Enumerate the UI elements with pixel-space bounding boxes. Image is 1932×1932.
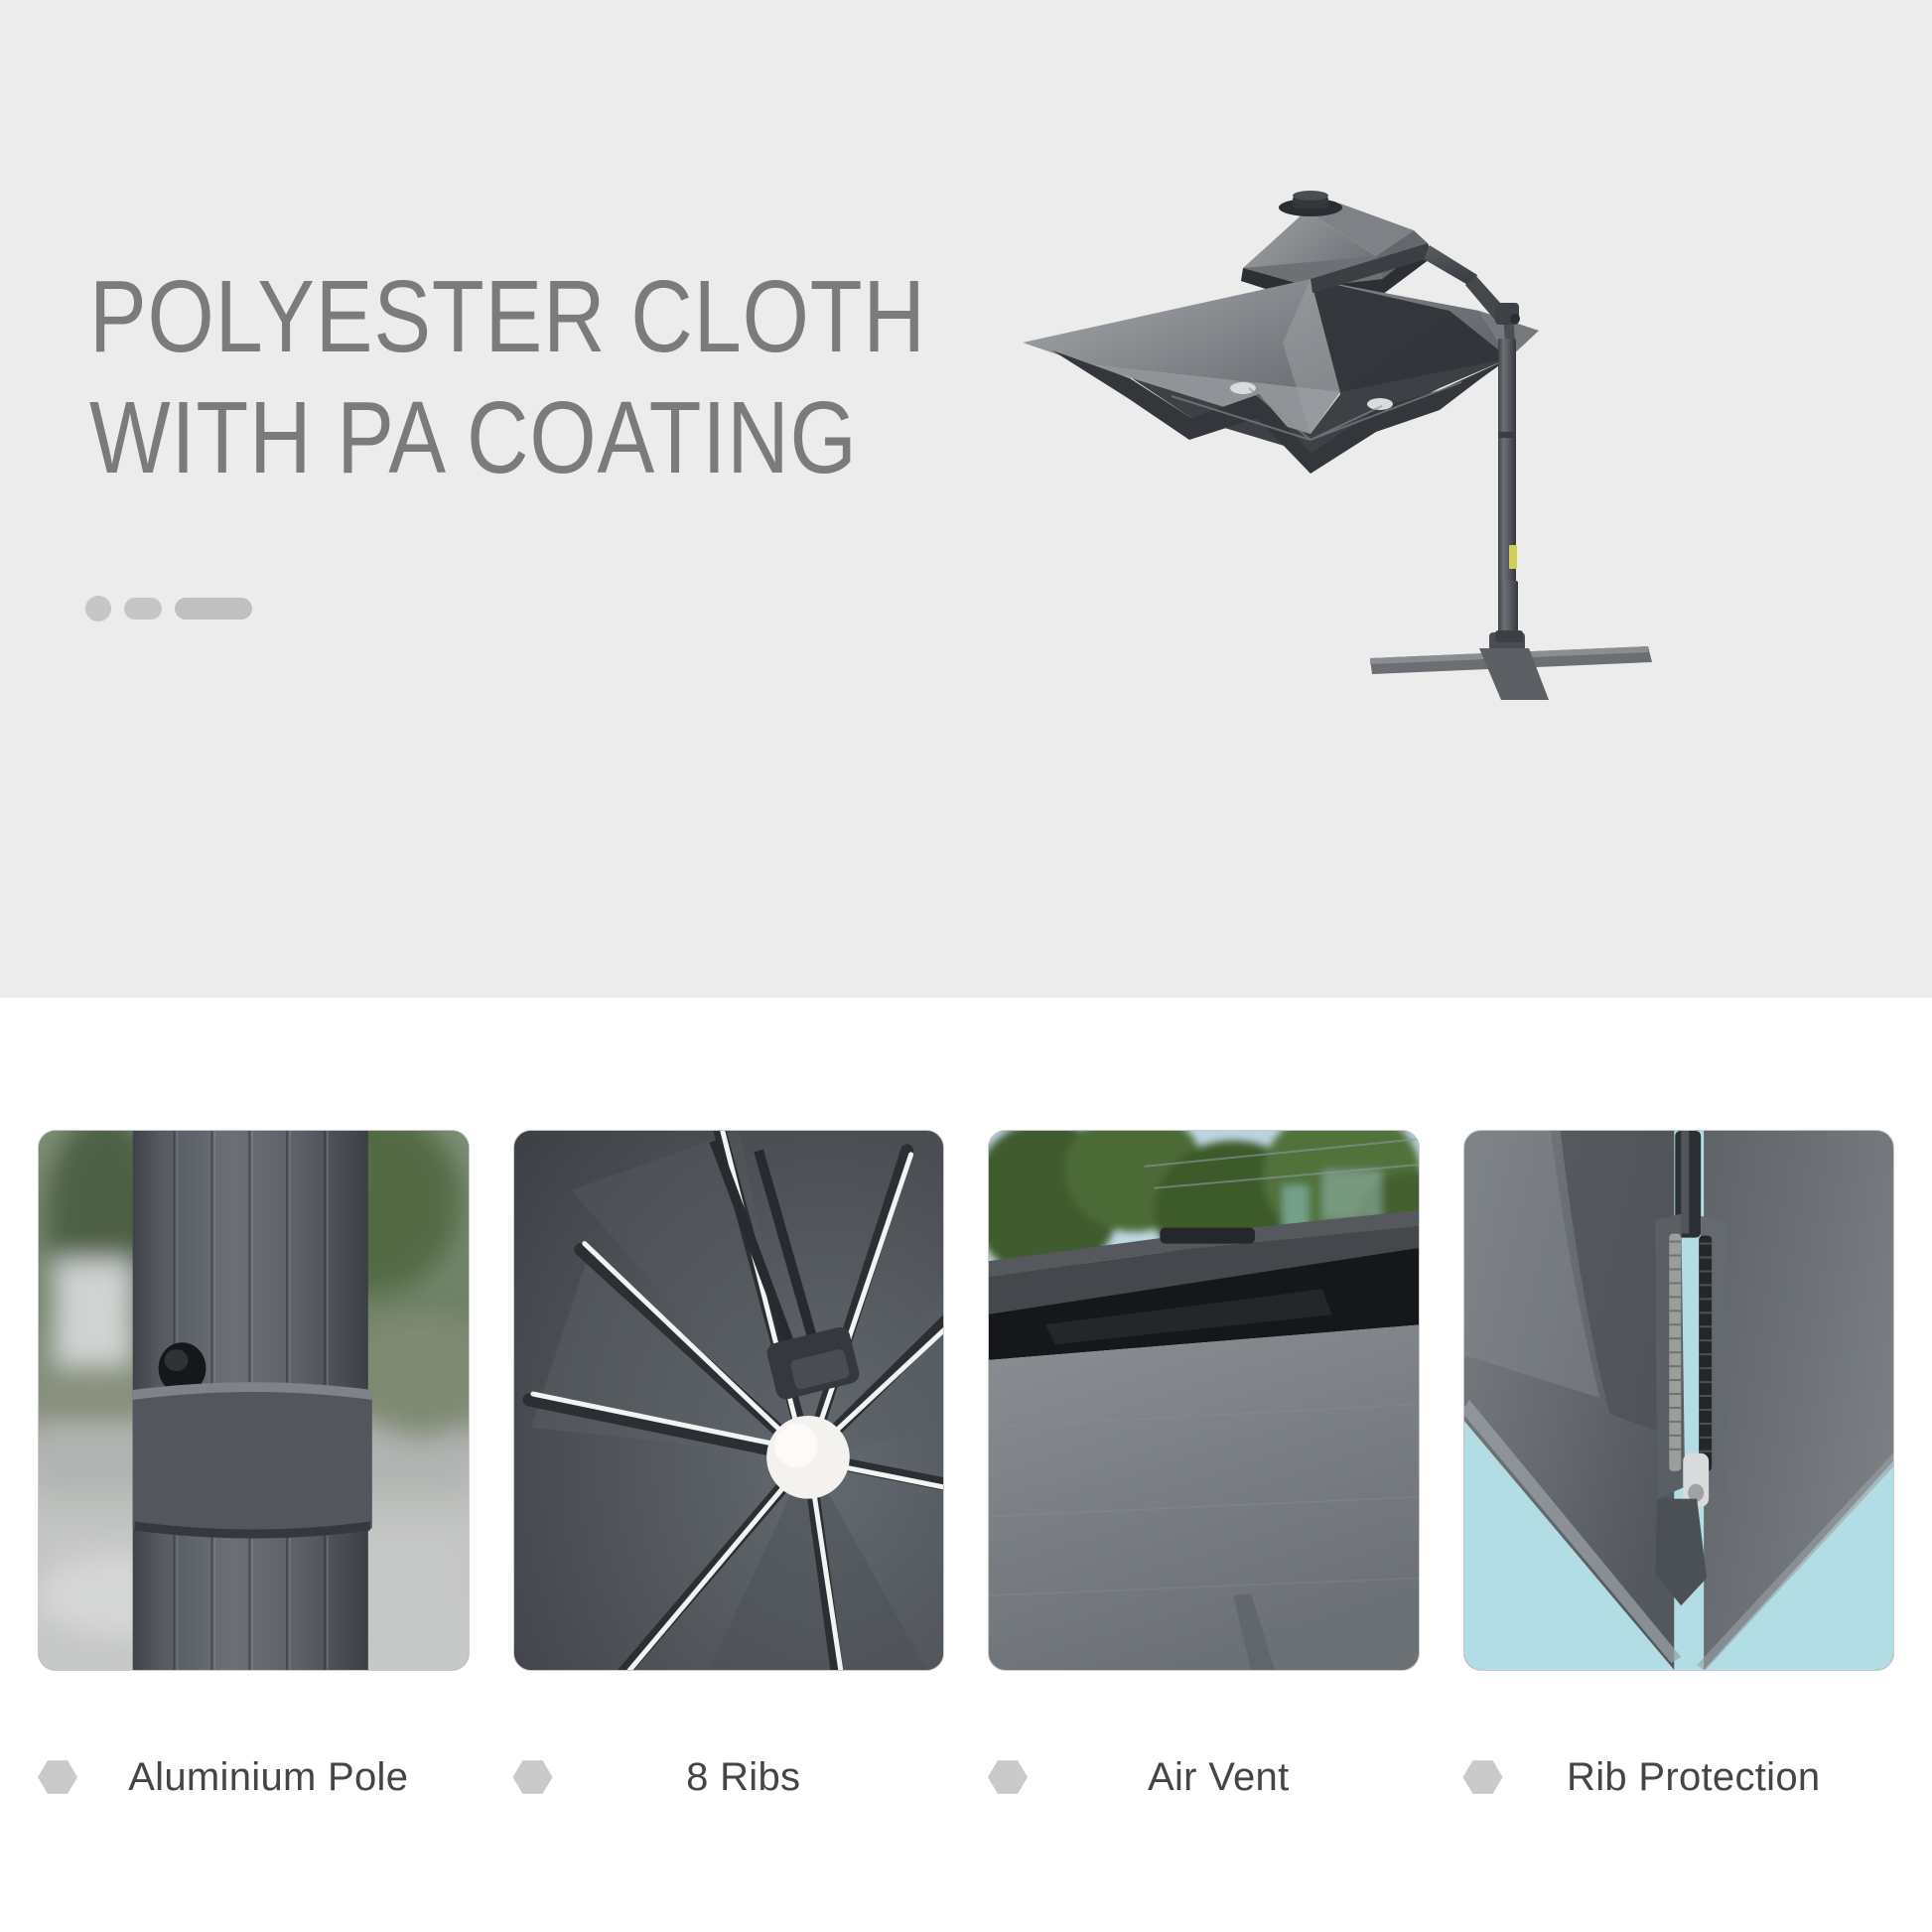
feature-card-rib-protection[interactable] [1463,1130,1895,1671]
rounded-bar-large-icon [175,598,252,620]
feature-cards-row [38,1130,1894,1671]
hexagon-bullet-icon [988,1759,1028,1795]
feature-labels-row: Aluminium Pole 8 Ribs Air Vent Rib Prote… [38,1723,1894,1832]
feature-card-air-vent[interactable] [988,1130,1420,1671]
label-text: 8 Ribs [553,1755,945,1800]
page-title: POLYESTER CLOTH WITH PA COATING [89,256,926,497]
led-light-icon [1367,398,1393,410]
umbrella-pole [1495,303,1520,638]
label-eight-ribs: 8 Ribs [513,1723,945,1832]
hero-section: POLYESTER CLOTH WITH PA COATING [0,0,1932,998]
hexagon-bullet-icon [1463,1759,1503,1795]
cantilever-patio-umbrella-image [1013,184,1648,700]
label-text: Aluminium Pole [77,1755,470,1800]
feature-card-aluminium-pole[interactable] [38,1130,470,1671]
decoration-marks [85,596,252,621]
hexagon-bullet-icon [38,1759,77,1795]
label-aluminium-pole: Aluminium Pole [38,1723,470,1832]
warning-sticker-icon [1509,545,1517,569]
hexagon-bullet-icon [513,1759,553,1795]
cross-base [1370,630,1652,700]
label-rib-protection: Rib Protection [1463,1723,1895,1832]
solar-light-cap-icon [1279,191,1342,216]
rounded-bar-small-icon [124,598,162,620]
led-light-icon [1230,382,1256,394]
main-canopy-tier [1023,279,1539,474]
label-text: Rib Protection [1503,1755,1895,1800]
label-air-vent: Air Vent [988,1723,1420,1832]
feature-card-eight-ribs[interactable] [513,1130,945,1671]
label-text: Air Vent [1028,1755,1420,1800]
solar-cap-icon [1160,1228,1255,1244]
circle-dot-icon [85,596,111,621]
